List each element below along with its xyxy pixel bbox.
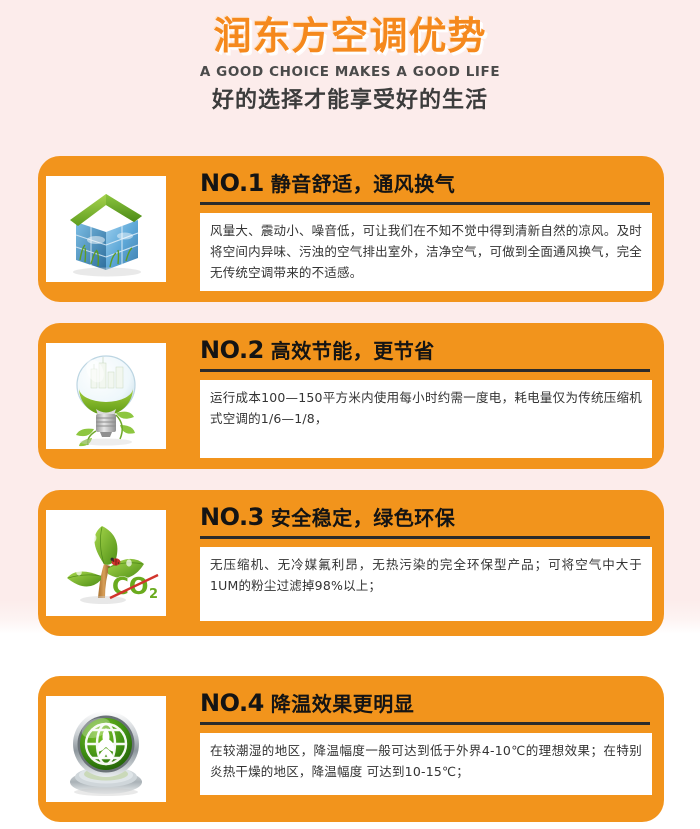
card-description: 风量大、震动小、噪音低，可让我们在不知不觉中得到清新自然的凉风。及时将空间内异味… [200, 213, 652, 291]
card-body: NO.3 安全稳定，绿色环保 无压缩机、无冷媒氟利昂，无热污染的完全环保型产品；… [200, 490, 652, 621]
promo-page: 润东方空调优势 A GOOD CHOICE MAKES A GOOD LIFE … [0, 0, 700, 829]
tagline-chinese: 好的选择才能享受好的生活 [0, 87, 700, 115]
card-number: NO.1 [200, 170, 264, 196]
card-description: 在较潮湿的地区，降温幅度一般可达到低于外界4-10℃的理想效果；在特别炎热干燥的… [200, 733, 652, 795]
card-number: NO.4 [200, 690, 264, 716]
card-heading: NO.2 高效节能，更节省 [200, 337, 650, 372]
advantage-card: NO.4 降温效果更明显 在较潮湿的地区，降温幅度一般可达到低于外界4-10℃的… [38, 676, 664, 822]
card-heading: NO.4 降温效果更明显 [200, 690, 650, 725]
card-thumbnail [46, 696, 166, 802]
card-description: 运行成本100—150平方米内使用每小时约需一度电，耗电量仅为传统压缩机式空调的… [200, 380, 652, 458]
green-roof-house-icon [46, 176, 166, 282]
card-thumbnail [46, 343, 166, 449]
svg-text:2: 2 [149, 587, 158, 602]
tagline-english: A GOOD CHOICE MAKES A GOOD LIFE [0, 64, 700, 80]
card-description: 无压缩机、无冷媒氟利昂，无热污染的完全环保型产品；可将空气中大于1UM的粉尘过滤… [200, 547, 652, 621]
card-body: NO.2 高效节能，更节省 运行成本100—150平方米内使用每小时约需一度电，… [200, 323, 652, 458]
card-thumbnail [46, 176, 166, 282]
page-title: 润东方空调优势 [0, 14, 700, 58]
green-globe-emblem-icon [46, 696, 166, 802]
eco-lightbulb-icon [46, 343, 166, 449]
card-title: 高效节能，更节省 [271, 338, 435, 364]
card-title: 静音舒适，通风换气 [271, 171, 456, 197]
card-number: NO.3 [200, 504, 264, 530]
card-number: NO.2 [200, 337, 264, 363]
advantage-card: NO.1 静音舒适，通风换气 风量大、震动小、噪音低，可让我们在不知不觉中得到清… [38, 156, 664, 302]
card-body: NO.1 静音舒适，通风换气 风量大、震动小、噪音低，可让我们在不知不觉中得到清… [200, 156, 652, 291]
card-title: 安全稳定，绿色环保 [271, 505, 456, 531]
card-body: NO.4 降温效果更明显 在较潮湿的地区，降温幅度一般可达到低于外界4-10℃的… [200, 676, 652, 795]
co2-sapling-icon: CO 2 [46, 510, 166, 616]
card-title: 降温效果更明显 [271, 691, 415, 717]
card-thumbnail: CO 2 [46, 510, 166, 616]
card-heading: NO.3 安全稳定，绿色环保 [200, 504, 650, 539]
card-heading: NO.1 静音舒适，通风换气 [200, 170, 650, 205]
page-header: 润东方空调优势 A GOOD CHOICE MAKES A GOOD LIFE … [0, 0, 700, 115]
advantage-card: NO.2 高效节能，更节省 运行成本100—150平方米内使用每小时约需一度电，… [38, 323, 664, 469]
advantage-card: CO 2 NO.3 安全稳定，绿色环保 无压缩机、无冷媒氟利昂，无热污染的完全环… [38, 490, 664, 636]
